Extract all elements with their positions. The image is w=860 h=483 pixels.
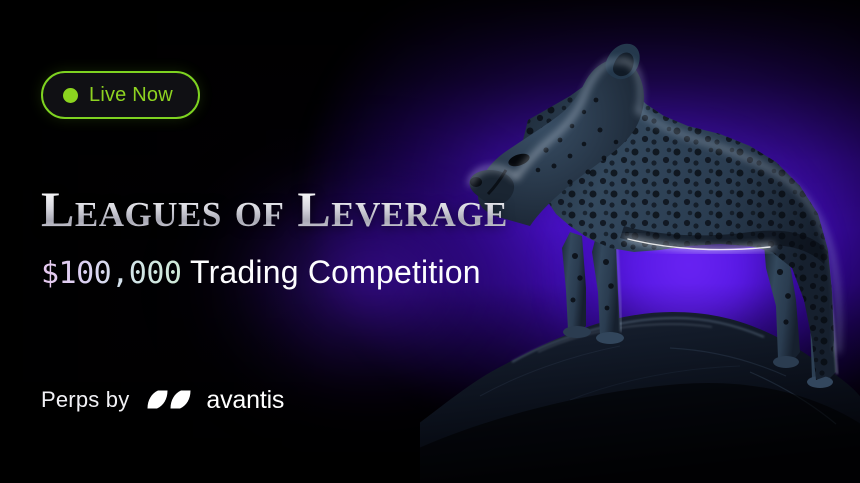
avantis-logo-mark xyxy=(146,386,196,414)
cheetah-artwork xyxy=(420,0,860,483)
subtitle-text: Trading Competition xyxy=(182,254,481,290)
live-now-label: Live Now xyxy=(89,85,173,105)
promo-banner: Live Now Leagues of Leverage $100,000 Tr… xyxy=(0,0,860,483)
avantis-wordmark: avantis xyxy=(206,388,284,413)
prize-amount: $100,000 xyxy=(41,256,182,291)
avantis-brand[interactable]: avantis xyxy=(146,386,284,414)
brand-lockup-row: Perps by avantis xyxy=(41,386,284,414)
live-status-dot xyxy=(63,88,78,103)
brand-prefix-label: Perps by xyxy=(41,389,129,411)
live-now-badge[interactable]: Live Now xyxy=(41,71,200,119)
page-subtitle: $100,000 Trading Competition xyxy=(41,255,481,290)
page-title: Leagues of Leverage xyxy=(41,184,508,234)
